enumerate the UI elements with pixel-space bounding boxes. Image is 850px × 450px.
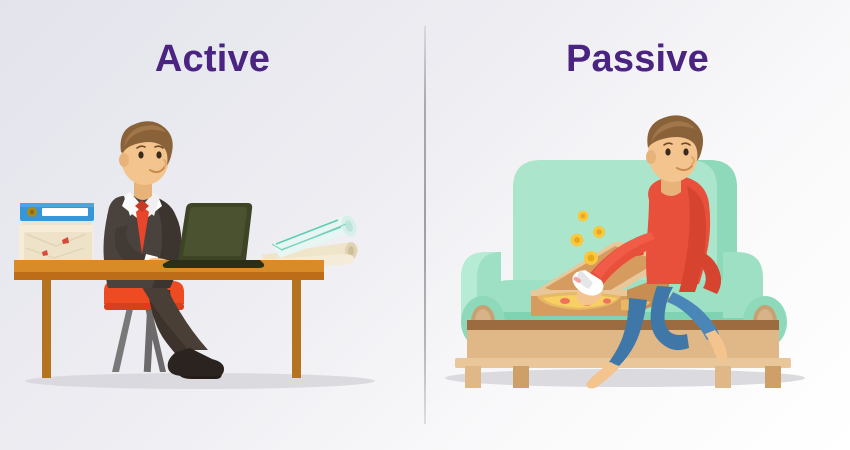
illustration-active (0, 0, 425, 450)
panel-divider (424, 26, 426, 424)
rolled-blueprints (258, 213, 359, 267)
floor-shadow-icon (445, 369, 805, 387)
paper-stack-with-binder (19, 203, 94, 261)
panel-active: Active (0, 0, 425, 450)
panel-passive: Passive (425, 0, 850, 450)
comparison-illustration: Active (0, 0, 850, 450)
illustration-passive (425, 0, 850, 450)
